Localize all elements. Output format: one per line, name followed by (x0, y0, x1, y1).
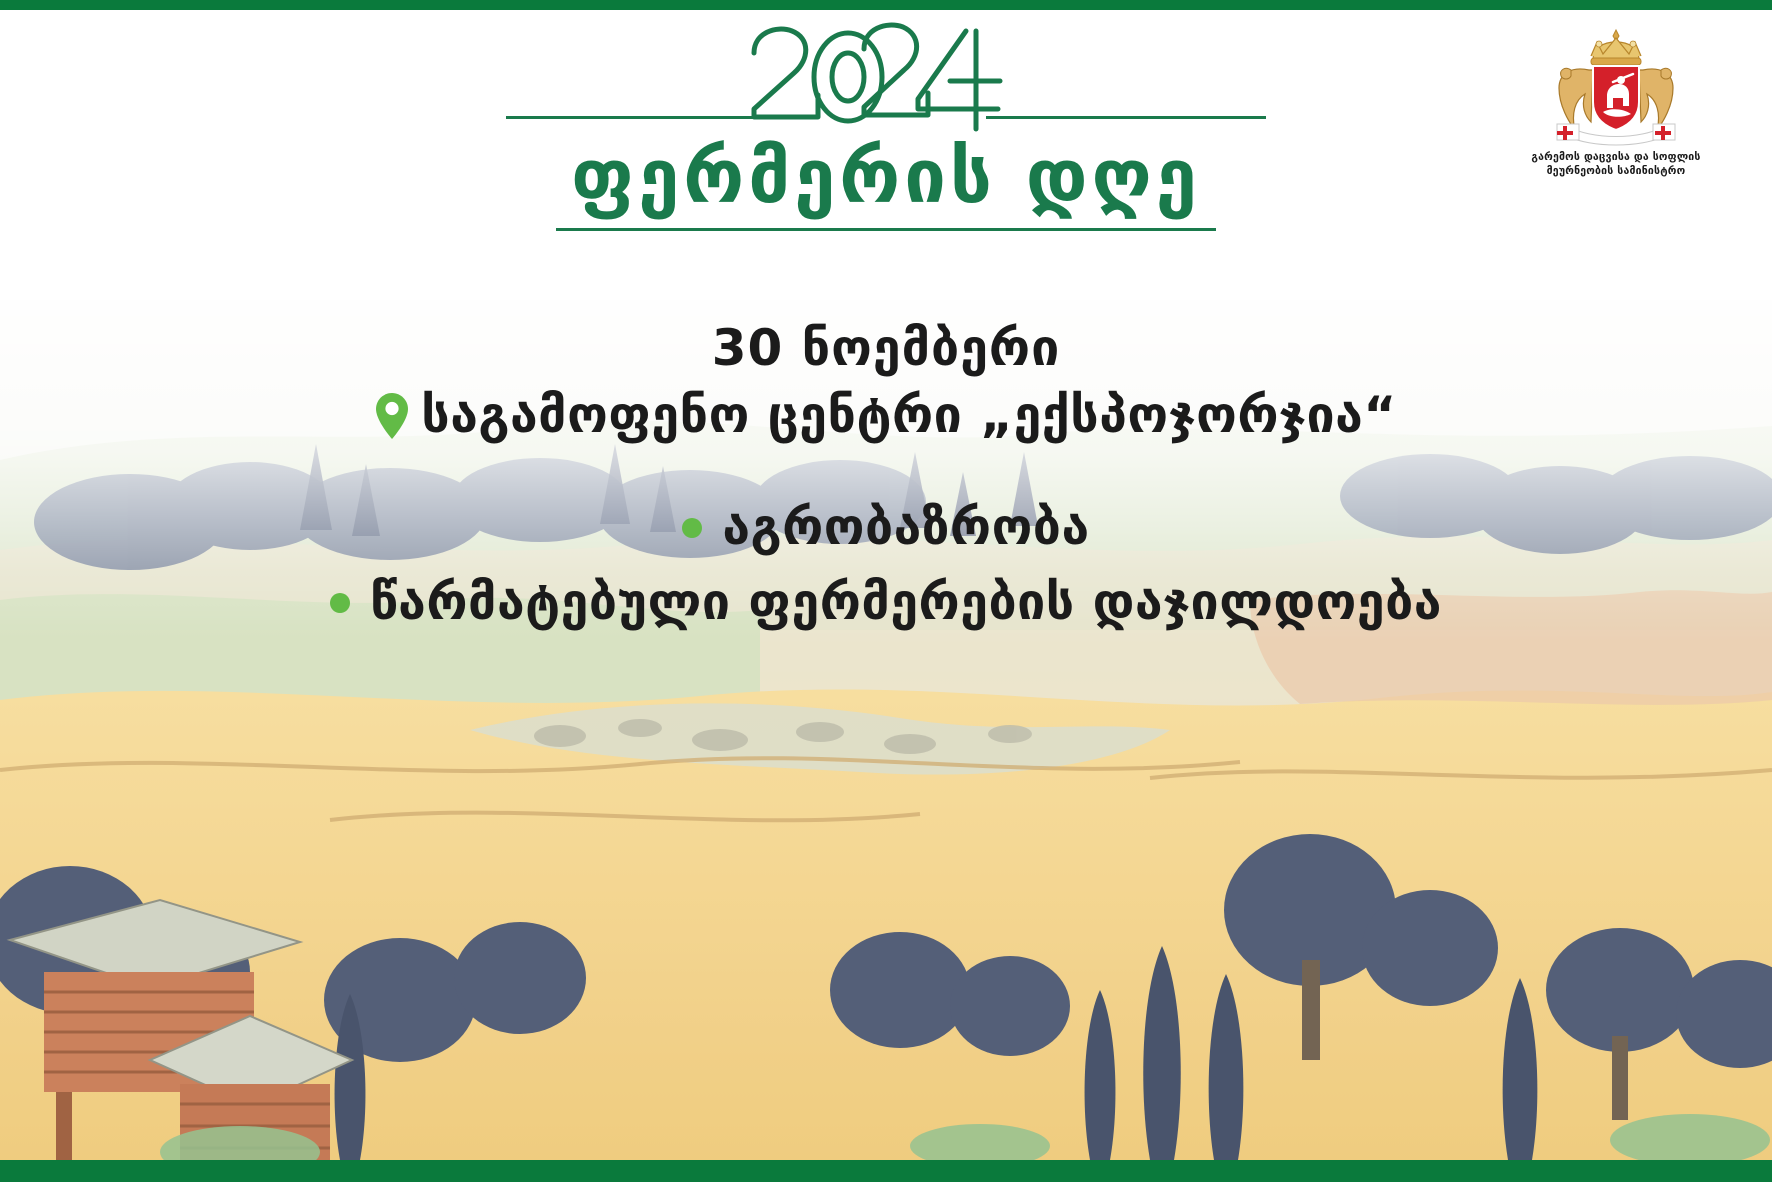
year-2024-monogram (506, 16, 1266, 136)
location-pin-icon (375, 392, 409, 440)
bullet-dot-icon (330, 593, 350, 613)
title-underline (556, 228, 1216, 231)
georgia-coat-of-arms-icon (1541, 26, 1691, 150)
top-green-bar (0, 0, 1772, 10)
event-date: 30 ნოემბერი (0, 318, 1772, 379)
crown-part (1591, 30, 1641, 65)
brand-lockup: ფერმერის დღე (506, 16, 1266, 231)
poster-title: ფერმერის დღე (506, 140, 1266, 214)
list-item: წარმატებული ფერმერების დაჯილდოება (0, 565, 1772, 640)
event-venue-row: საგამოფენო ცენტრი „ექსპოჯორჯია“ (0, 385, 1772, 446)
list-item: აგრობაზრობა (0, 490, 1772, 565)
poster-header: ფერმერის დღე (0, 10, 1772, 300)
program-list: აგრობაზრობა წარმატებული ფერმერების დაჯილ… (0, 490, 1772, 640)
ministry-name-line2: მეურნეობის სამინისტრო (1496, 164, 1736, 178)
bullet-dot-icon (682, 518, 702, 538)
event-venue-label: საგამოფენო ცენტრი „ექსპოჯორჯია“ (421, 385, 1396, 446)
ministry-name-line1: გარემოს დაცვისა და სოფლის (1496, 150, 1736, 164)
event-poster: ფერმერის დღე (0, 0, 1772, 1182)
program-item-label: წარმატებული ფერმერების დაჯილდოება (370, 565, 1442, 640)
bottom-green-bar (0, 1160, 1772, 1182)
program-item-label: აგრობაზრობა (722, 490, 1089, 565)
shield-part (1593, 66, 1639, 130)
year-2024-icon (736, 17, 1036, 135)
ministry-emblem-block: გარემოს დაცვისა და სოფლის მეურნეობის სამ… (1496, 26, 1736, 178)
event-details: 30 ნოემბერი საგამოფენო ცენტრი „ექსპოჯორჯ… (0, 318, 1772, 640)
